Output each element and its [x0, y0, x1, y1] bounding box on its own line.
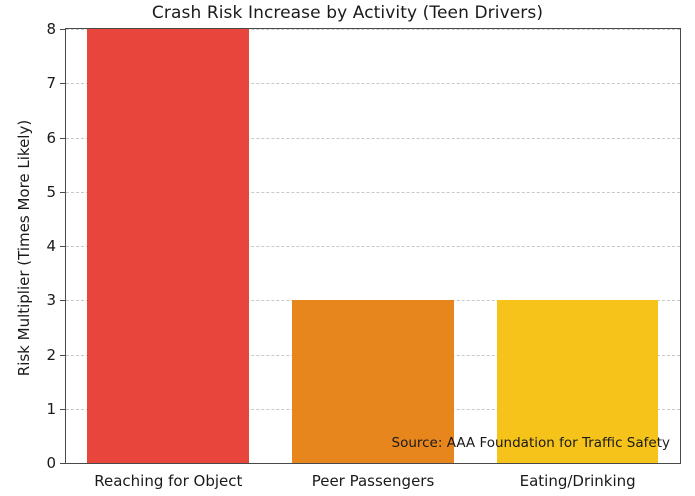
- y-tick-mark: [60, 300, 66, 301]
- x-tick-label: Peer Passengers: [312, 472, 435, 490]
- y-tick-label: 0: [46, 454, 56, 472]
- y-tick-mark: [60, 138, 66, 139]
- y-tick-mark: [60, 463, 66, 464]
- y-tick-label: 1: [46, 400, 56, 418]
- y-tick-mark: [60, 192, 66, 193]
- y-tick-label: 3: [46, 291, 56, 309]
- x-tick-label: Reaching for Object: [94, 472, 242, 490]
- y-tick-label: 2: [46, 346, 56, 364]
- y-tick-mark: [60, 246, 66, 247]
- y-tick-mark: [60, 29, 66, 30]
- x-tick-label: Eating/Drinking: [520, 472, 636, 490]
- y-tick-mark: [60, 83, 66, 84]
- y-tick-label: 5: [46, 183, 56, 201]
- y-tick-label: 6: [46, 129, 56, 147]
- y-tick-label: 8: [46, 20, 56, 38]
- bar: [87, 29, 249, 463]
- y-tick-label: 7: [46, 74, 56, 92]
- y-tick-mark: [60, 355, 66, 356]
- plot-area: 012345678 Reaching for ObjectPeer Passen…: [65, 28, 681, 464]
- y-tick-label: 4: [46, 237, 56, 255]
- chart-figure: Crash Risk Increase by Activity (Teen Dr…: [0, 0, 695, 496]
- y-tick-mark: [60, 409, 66, 410]
- chart-title: Crash Risk Increase by Activity (Teen Dr…: [0, 3, 695, 23]
- y-axis-title: Risk Multiplier (Times More Likely): [10, 0, 38, 496]
- source-annotation: Source: AAA Foundation for Traffic Safet…: [392, 435, 671, 451]
